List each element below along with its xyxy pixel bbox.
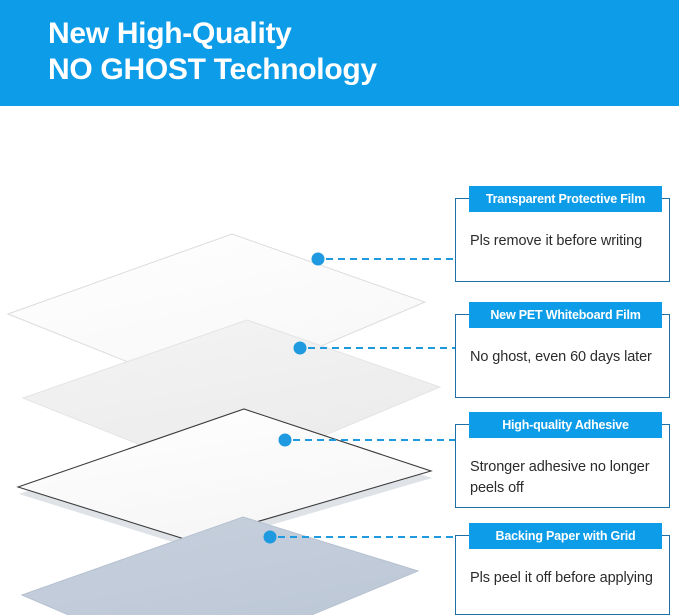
callout-backing-paper-with-grid: Backing Paper with Grid Pls peel it off … — [455, 535, 670, 615]
callout-body: Stronger adhesive no longer peels off — [456, 451, 669, 509]
layer-illustration — [0, 106, 460, 615]
callout-transparent-protective-film: Transparent Protective Film Pls remove i… — [455, 198, 670, 282]
sheet-backing-paper — [22, 517, 418, 615]
callout-title: Transparent Protective Film — [469, 186, 662, 212]
header-banner: New High-Quality NO GHOST Technology — [0, 0, 679, 106]
callout-title: New PET Whiteboard Film — [469, 302, 662, 328]
exploded-layers-svg — [0, 106, 460, 615]
callout-title: High-quality Adhesive — [469, 412, 662, 438]
page-title: New High-Quality NO GHOST Technology — [48, 16, 648, 88]
callout-body: Pls remove it before writing — [456, 225, 669, 262]
callout-body: Pls peel it off before applying — [456, 562, 669, 599]
callout-title: Backing Paper with Grid — [469, 523, 662, 549]
callout-high-quality-adhesive: High-quality Adhesive Stronger adhesive … — [455, 424, 670, 508]
callout-new-pet-whiteboard-film: New PET Whiteboard Film No ghost, even 6… — [455, 314, 670, 398]
callout-body: No ghost, even 60 days later — [456, 341, 669, 378]
